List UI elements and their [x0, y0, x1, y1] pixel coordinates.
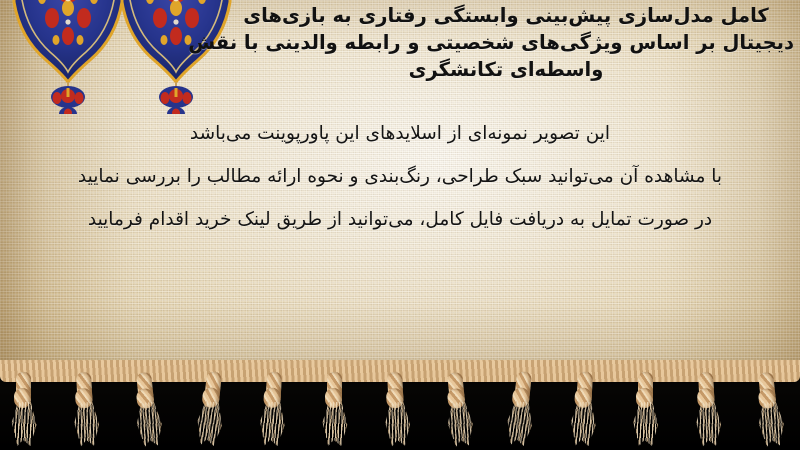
- slide-title: کامل مدل‌سازی پیش‌بینی وابستگی رفتاری به…: [218, 2, 794, 83]
- fringe-tassel: [251, 371, 301, 450]
- body-line-3: در صورت تمایل به دریافت فایل کامل، می‌تو…: [8, 198, 792, 241]
- fringe-brush: [257, 401, 287, 446]
- title-line-2: دیجیتال بر اساس ویژگی‌های شخصیتی و رابطه…: [218, 29, 794, 56]
- fringe-brush: [383, 401, 413, 446]
- fringe-tassel: [187, 370, 241, 450]
- fringe-tassel: [4, 372, 50, 450]
- fringe-brush: [568, 401, 598, 446]
- fringe-tassel: [124, 370, 178, 450]
- fringe-tassel: [315, 372, 361, 450]
- fringe-brush: [693, 401, 723, 446]
- body-line-1: این تصویر نمونه‌ای از اسلایدهای این پاور…: [8, 112, 792, 155]
- body-line-2: با مشاهده آن می‌توانید سبک طراحی، رنگ‌بن…: [8, 155, 792, 198]
- fringe-tassel: [626, 372, 672, 450]
- fringe-brush: [321, 402, 349, 446]
- carpet-fringe: [0, 372, 800, 450]
- fringe-tassel: [497, 370, 551, 450]
- fringe-brush: [755, 401, 787, 448]
- presentation-slide: کامل مدل‌سازی پیش‌بینی وابستگی رفتاری به…: [0, 0, 800, 450]
- persian-medallion-ornament-icon: [120, 0, 232, 118]
- fringe-tassel: [435, 370, 489, 450]
- fringe-brush: [444, 401, 476, 448]
- persian-medallion-ornament-icon: [12, 0, 124, 118]
- fringe-brush: [134, 401, 166, 448]
- fringe-tassel: [562, 371, 612, 450]
- fringe-tassel: [375, 371, 425, 450]
- title-line-1: کامل مدل‌سازی پیش‌بینی وابستگی رفتاری به…: [218, 2, 794, 29]
- fringe-brush: [10, 402, 38, 446]
- fringe-brush: [72, 401, 102, 446]
- fringe-brush: [504, 400, 536, 447]
- fringe-tassel: [746, 370, 800, 450]
- fringe-tassel: [686, 371, 736, 450]
- fringe-brush: [193, 400, 225, 447]
- fringe-tassel: [64, 371, 114, 450]
- fringe-brush: [632, 402, 660, 446]
- slide-body-text: این تصویر نمونه‌ای از اسلایدهای این پاور…: [8, 112, 792, 241]
- title-line-3: واسطه‌ای تکانشگری: [218, 56, 794, 83]
